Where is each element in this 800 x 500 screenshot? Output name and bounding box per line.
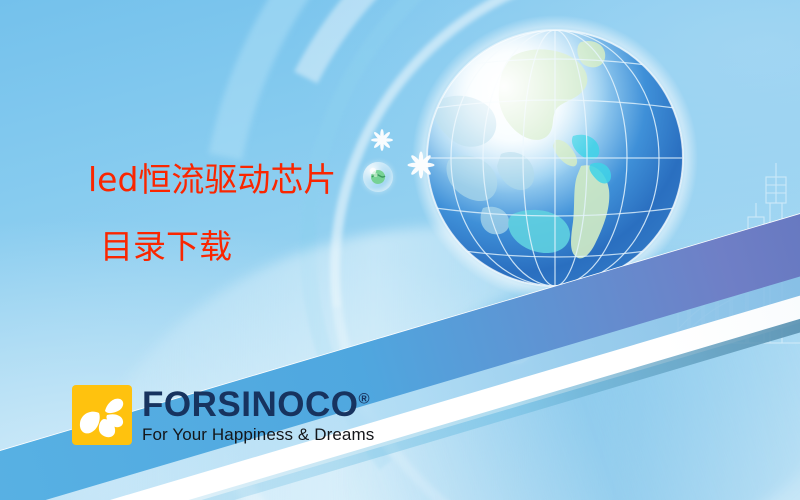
page-title: led恒流驱动芯片 目录下载 (88, 163, 336, 263)
four-petal-pinwheel-icon (72, 385, 132, 445)
bubble-sprout-icon (499, 330, 533, 364)
brand-wordmark-text: FORSINOCO (142, 385, 358, 424)
brand-tagline: For Your Happiness & Dreams (142, 425, 374, 445)
brand-logo-text: FORSINOCO® For Your Happiness & Dreams (142, 385, 374, 445)
brand-wordmark: FORSINOCO® (142, 387, 374, 422)
registered-trademark-icon: ® (358, 390, 370, 407)
earth-globe-icon (405, 8, 705, 308)
flower-burst-icon (406, 150, 436, 180)
flower-burst-icon (370, 128, 394, 152)
bubble-globe-icon (363, 162, 393, 192)
slide-canvas: led恒流驱动芯片 目录下载 FORSINOCO® (0, 0, 800, 500)
page-title-line-1: led恒流驱动芯片 (88, 163, 336, 196)
page-title-line-2: 目录下载 (100, 230, 336, 263)
brand-logo: FORSINOCO® For Your Happiness & Dreams (72, 385, 374, 445)
